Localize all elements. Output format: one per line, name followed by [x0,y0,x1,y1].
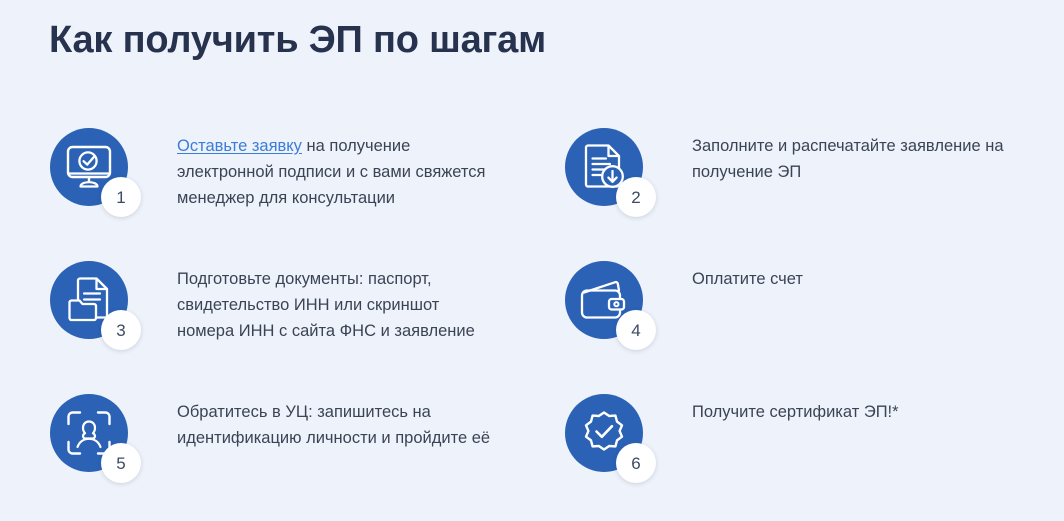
steps-section: Как получить ЭП по шагам 1 Оставьте зая [0,0,1064,516]
step-icon-wrap-4: 4 [565,261,643,339]
step-text-2: Заполните и распечатайте заявление на по… [643,122,1013,185]
step-text-4: Оплатите счет [643,255,803,292]
step-text-6: Получите сертификат ЭП!* [643,388,899,425]
step-icon-wrap-6: 6 [565,394,643,472]
step-text-1: Оставьте заявку на получение электронной… [128,122,500,211]
step-number-badge-1: 1 [101,177,141,217]
step-number-badge-3: 3 [101,310,141,350]
step-item-5: 5 Обратитесь в УЦ: запишитесь на идентиф… [50,388,565,521]
leave-request-link[interactable]: Оставьте заявку [177,137,302,155]
step-item-6: 6 Получите сертификат ЭП!* [565,388,1064,521]
step-number-badge-4: 4 [616,310,656,350]
steps-grid: 1 Оставьте заявку на получение электронн… [0,122,1064,521]
step-icon-wrap-3: 3 [50,261,128,339]
step-text-5: Обратитесь в УЦ: запишитесь на идентифик… [128,388,498,451]
step-item-1: 1 Оставьте заявку на получение электронн… [50,122,565,255]
step-number-badge-5: 5 [101,443,141,483]
page-title: Как получить ЭП по шагам [49,14,546,66]
step-number-badge-2: 2 [616,177,656,217]
step-item-4: 4 Оплатите счет [565,255,1064,388]
step-icon-wrap-5: 5 [50,394,128,472]
step-icon-wrap-1: 1 [50,128,128,206]
step-item-2: 2 Заполните и распечатайте заявление на … [565,122,1064,255]
step-item-3: 3 Подготовьте документы: паспорт, свидет… [50,255,565,388]
step-number-badge-6: 6 [616,443,656,483]
step-icon-wrap-2: 2 [565,128,643,206]
step-text-3: Подготовьте документы: паспорт, свидетел… [128,255,500,344]
